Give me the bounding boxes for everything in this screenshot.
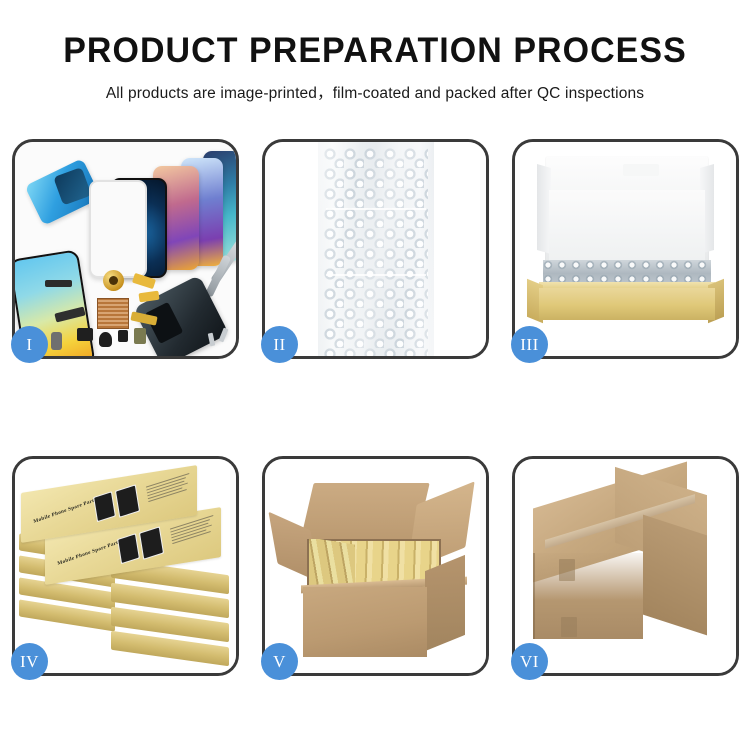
box-label: Mobile Phone Spare Parts (33, 497, 97, 525)
small-part-icon (99, 332, 112, 347)
carton-front (533, 553, 643, 639)
bubble-wrap-icon (265, 142, 486, 356)
box-spec-lines (170, 515, 216, 546)
step-badge-4: IV (11, 643, 48, 680)
open-carton-icon (265, 459, 486, 673)
step-panel-5: V (262, 456, 489, 676)
step-badge-3: III (511, 326, 548, 363)
connector-grid-icon (97, 298, 129, 329)
header: PRODUCT PREPARATION PROCESS All products… (0, 0, 750, 103)
speaker-bar-icon (45, 280, 72, 287)
step-panel-2: II (262, 139, 489, 359)
step-badge-5: V (261, 643, 298, 680)
phone-screen-thumb (93, 491, 116, 522)
page-title: PRODUCT PREPARATION PROCESS (11, 0, 739, 70)
plastic-sheen (318, 142, 434, 356)
carton-seam (533, 553, 535, 639)
step-panel-1: I (12, 139, 239, 359)
step-panel-3: III (512, 139, 739, 359)
step-badge-2: II (261, 326, 298, 363)
lid-tab (623, 164, 659, 176)
box-stack: Mobile Phone Spare Parts Mobile Phone Sp… (15, 459, 236, 673)
bubble-wrap-sleeve (318, 142, 434, 356)
carton-side-right (643, 515, 707, 636)
phone-screen-thumb (115, 484, 140, 518)
small-part-icon (118, 330, 128, 342)
step-panel-4: Mobile Phone Spare Parts Mobile Phone Sp… (12, 456, 239, 676)
product-preparation-infographic: PRODUCT PREPARATION PROCESS All products… (0, 0, 750, 750)
phone-screen-thumb (139, 526, 164, 560)
foam-insert (549, 190, 705, 266)
box-label: Mobile Phone Spare Parts (57, 539, 121, 567)
carton-front (303, 587, 427, 657)
step-panel-6: VI (512, 456, 739, 676)
phone-parts-icon (15, 142, 236, 356)
carton-side-right (425, 555, 465, 651)
page-subtitle: All products are image-printed，film-coat… (0, 70, 750, 103)
sim-tray-icon (51, 332, 62, 350)
small-part-icon (134, 328, 146, 344)
phone-screen-thumb (117, 533, 140, 564)
small-part-icon (77, 328, 93, 341)
open-white-box-icon (515, 142, 736, 356)
sealed-carton-icon (515, 459, 736, 673)
glass-panel-icon (89, 180, 147, 278)
step-badge-6: VI (511, 643, 548, 680)
tape-tab (559, 559, 575, 581)
tape-tab (561, 617, 577, 637)
carton-flap-back (300, 483, 429, 541)
box-spec-lines (146, 473, 192, 504)
stacked-boxes-icon: Mobile Phone Spare Parts Mobile Phone Sp… (15, 459, 236, 673)
coil-icon (103, 270, 124, 291)
process-steps-grid: I II (12, 139, 739, 676)
box-front (539, 288, 715, 320)
step-badge-1: I (11, 326, 48, 363)
